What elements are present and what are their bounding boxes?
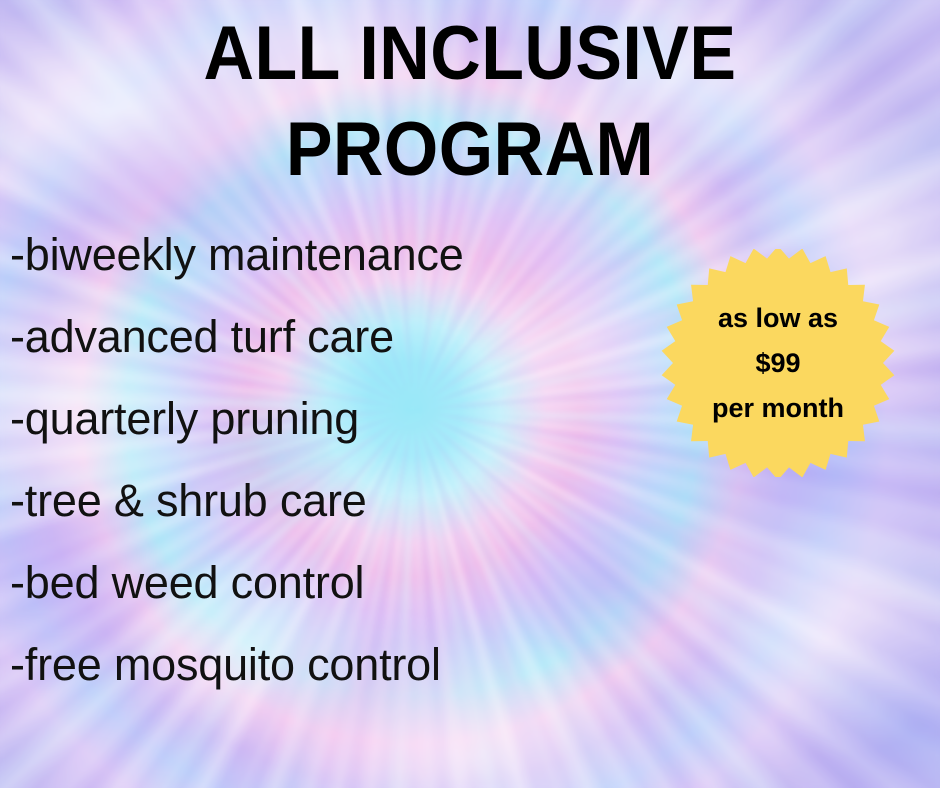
price-badge-text: as low as $99 per month [660,249,896,477]
list-item: -quarterly pruning [10,378,650,460]
page-title-line-2: PROGRAM [38,102,903,198]
price-badge: as low as $99 per month [660,249,896,477]
list-item: -biweekly maintenance [10,214,650,296]
price-badge-line-2: $99 [755,341,800,386]
poster-content: ALL INCLUSIVE PROGRAM -biweekly maintena… [0,0,940,788]
list-item: -tree & shrub care [10,460,650,542]
price-badge-line-3: per month [712,386,844,431]
list-item: -free mosquito control [10,624,650,706]
page-title: ALL INCLUSIVE PROGRAM [38,6,903,198]
poster-canvas: ALL INCLUSIVE PROGRAM -biweekly maintena… [0,0,940,788]
service-list: -biweekly maintenance -advanced turf car… [10,214,650,706]
price-badge-line-1: as low as [718,296,838,341]
list-item: -bed weed control [10,542,650,624]
page-title-line-1: ALL INCLUSIVE [38,6,903,102]
list-item: -advanced turf care [10,296,650,378]
